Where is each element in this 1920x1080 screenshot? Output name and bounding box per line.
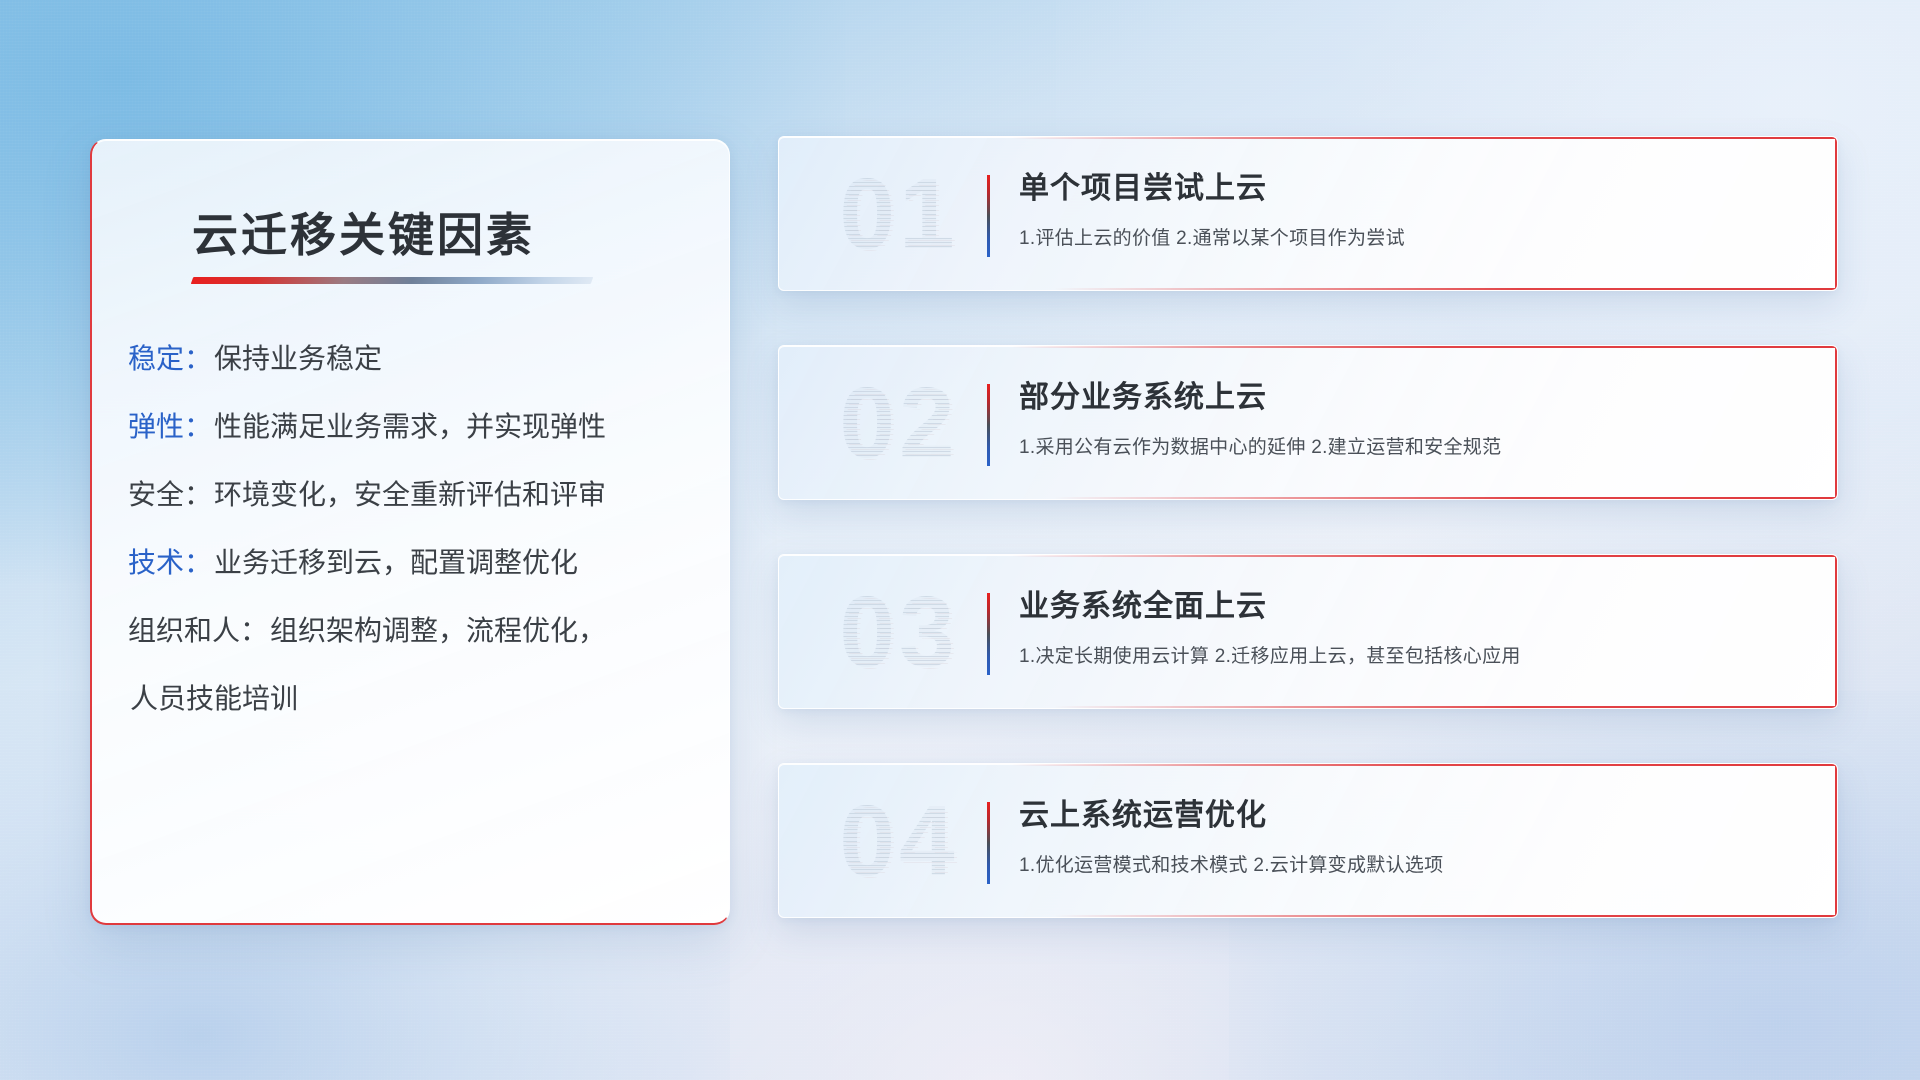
step-bottom-accent	[779, 288, 1837, 290]
step-title: 云上系统运营优化	[1019, 790, 1807, 834]
factor-text: 性能满足业务需求，并实现弹性	[214, 413, 606, 441]
step-title: 业务系统全面上云	[1019, 581, 1807, 625]
step-bottom-accent	[779, 497, 1837, 499]
factor-text: 组织架构调整，流程优化，	[270, 617, 606, 645]
step-card[interactable]: 04 04 云上系统运营优化 1.优化运营模式和技术模式 2.云计算变成默认选项	[778, 763, 1838, 918]
step-description: 1.采用公有云作为数据中心的延伸 2.建立运营和安全规范	[1019, 432, 1807, 459]
panel-title: 云迁移关键因素	[192, 199, 535, 265]
step-description: 1.优化运营模式和技术模式 2.云计算变成默认选项	[1019, 850, 1807, 877]
factor-label: 稳定：	[128, 345, 212, 373]
step-number: 03	[809, 567, 989, 697]
factor-label: 弹性：	[128, 413, 212, 441]
step-number: 04	[809, 776, 989, 906]
step-accent-bar	[987, 384, 990, 466]
step-card[interactable]: 02 02 部分业务系统上云 1.采用公有云作为数据中心的延伸 2.建立运营和安…	[778, 345, 1838, 500]
step-card[interactable]: 01 01 单个项目尝试上云 1.评估上云的价值 2.通常以某个项目作为尝试	[778, 136, 1838, 291]
factor-item: 技术： 业务迁移到云，配置调整优化	[128, 549, 701, 577]
factor-text: 人员技能培训	[130, 685, 298, 713]
step-body: 业务系统全面上云 1.决定长期使用云计算 2.迁移应用上云，甚至包括核心应用	[1019, 581, 1807, 668]
step-number: 01	[809, 149, 989, 279]
step-accent-bar	[987, 593, 990, 675]
factor-text: 保持业务稳定	[214, 345, 382, 373]
step-title: 部分业务系统上云	[1019, 372, 1807, 416]
step-accent-bar	[987, 175, 990, 257]
step-title: 单个项目尝试上云	[1019, 163, 1807, 207]
step-description: 1.决定长期使用云计算 2.迁移应用上云，甚至包括核心应用	[1019, 641, 1807, 668]
factor-label: 组织和人：	[128, 617, 268, 645]
step-bottom-accent	[779, 706, 1837, 708]
migration-steps-list: 01 01 单个项目尝试上云 1.评估上云的价值 2.通常以某个项目作为尝试 0…	[778, 136, 1838, 972]
step-body: 单个项目尝试上云 1.评估上云的价值 2.通常以某个项目作为尝试	[1019, 163, 1807, 250]
factor-label: 安全：	[128, 481, 212, 509]
step-number: 02	[809, 358, 989, 488]
title-underline-gradient	[191, 277, 594, 284]
factor-item: 组织和人： 组织架构调整，流程优化，	[128, 617, 701, 645]
factor-label: 技术：	[128, 549, 212, 577]
step-accent-bar	[987, 802, 990, 884]
step-bottom-accent	[779, 915, 1837, 917]
step-body: 部分业务系统上云 1.采用公有云作为数据中心的延伸 2.建立运营和安全规范	[1019, 372, 1807, 459]
factor-item: 稳定： 保持业务稳定	[128, 345, 701, 373]
factor-list: 稳定： 保持业务稳定 弹性： 性能满足业务需求，并实现弹性 安全： 环境变化，安…	[128, 345, 701, 753]
factor-text: 业务迁移到云，配置调整优化	[214, 549, 578, 577]
slide-content: 云迁移关键因素 稳定： 保持业务稳定 弹性： 性能满足业务需求，并实现弹性 安全…	[0, 0, 1920, 1080]
factor-item: 弹性： 性能满足业务需求，并实现弹性	[128, 413, 701, 441]
key-factors-panel: 云迁移关键因素 稳定： 保持业务稳定 弹性： 性能满足业务需求，并实现弹性 安全…	[90, 139, 730, 925]
step-body: 云上系统运营优化 1.优化运营模式和技术模式 2.云计算变成默认选项	[1019, 790, 1807, 877]
step-description: 1.评估上云的价值 2.通常以某个项目作为尝试	[1019, 223, 1807, 250]
factor-text: 环境变化，安全重新评估和评审	[214, 481, 606, 509]
factor-item: 安全： 环境变化，安全重新评估和评审	[128, 481, 701, 509]
step-card[interactable]: 03 03 业务系统全面上云 1.决定长期使用云计算 2.迁移应用上云，甚至包括…	[778, 554, 1838, 709]
factor-item-continuation: 人员技能培训	[128, 685, 701, 713]
